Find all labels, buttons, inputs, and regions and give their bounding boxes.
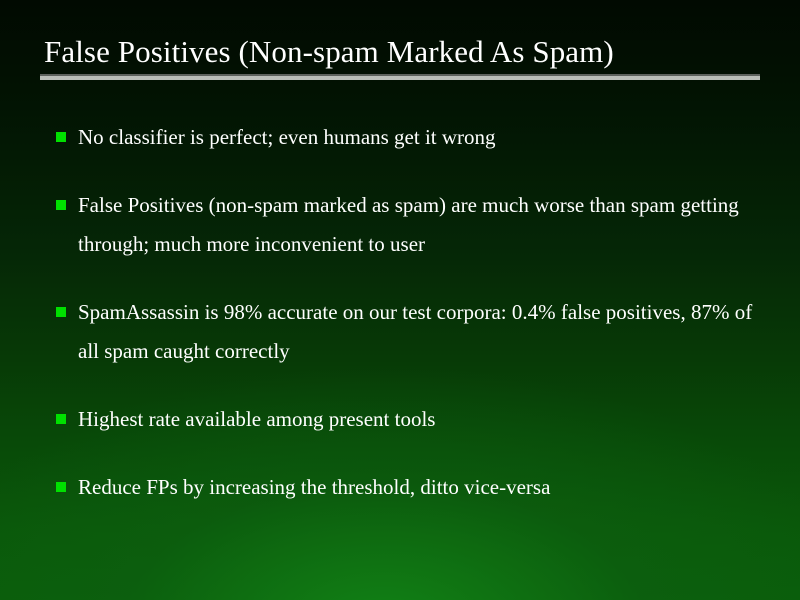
square-bullet-icon — [56, 200, 66, 210]
list-item: No classifier is perfect; even humans ge… — [56, 118, 756, 157]
list-item: Reduce FPs by increasing the threshold, … — [56, 468, 756, 507]
square-bullet-icon — [56, 307, 66, 317]
divider-body — [40, 76, 760, 80]
square-bullet-icon — [56, 414, 66, 424]
list-item-label: No classifier is perfect; even humans ge… — [78, 118, 756, 157]
title-block: False Positives (Non-spam Marked As Spam… — [40, 32, 760, 72]
list-item: Highest rate available among present too… — [56, 400, 756, 439]
list-item-label: False Positives (non-spam marked as spam… — [78, 186, 756, 264]
title-divider — [40, 74, 760, 80]
bullet-list: No classifier is perfect; even humans ge… — [56, 118, 756, 507]
list-item-label: Highest rate available among present too… — [78, 400, 756, 439]
list-item: False Positives (non-spam marked as spam… — [56, 186, 756, 264]
page-title: False Positives (Non-spam Marked As Spam… — [40, 32, 760, 72]
presentation-slide: False Positives (Non-spam Marked As Spam… — [0, 0, 800, 600]
square-bullet-icon — [56, 482, 66, 492]
list-item: SpamAssassin is 98% accurate on our test… — [56, 293, 756, 371]
list-item-label: SpamAssassin is 98% accurate on our test… — [78, 293, 756, 371]
square-bullet-icon — [56, 132, 66, 142]
list-item-label: Reduce FPs by increasing the threshold, … — [78, 468, 756, 507]
